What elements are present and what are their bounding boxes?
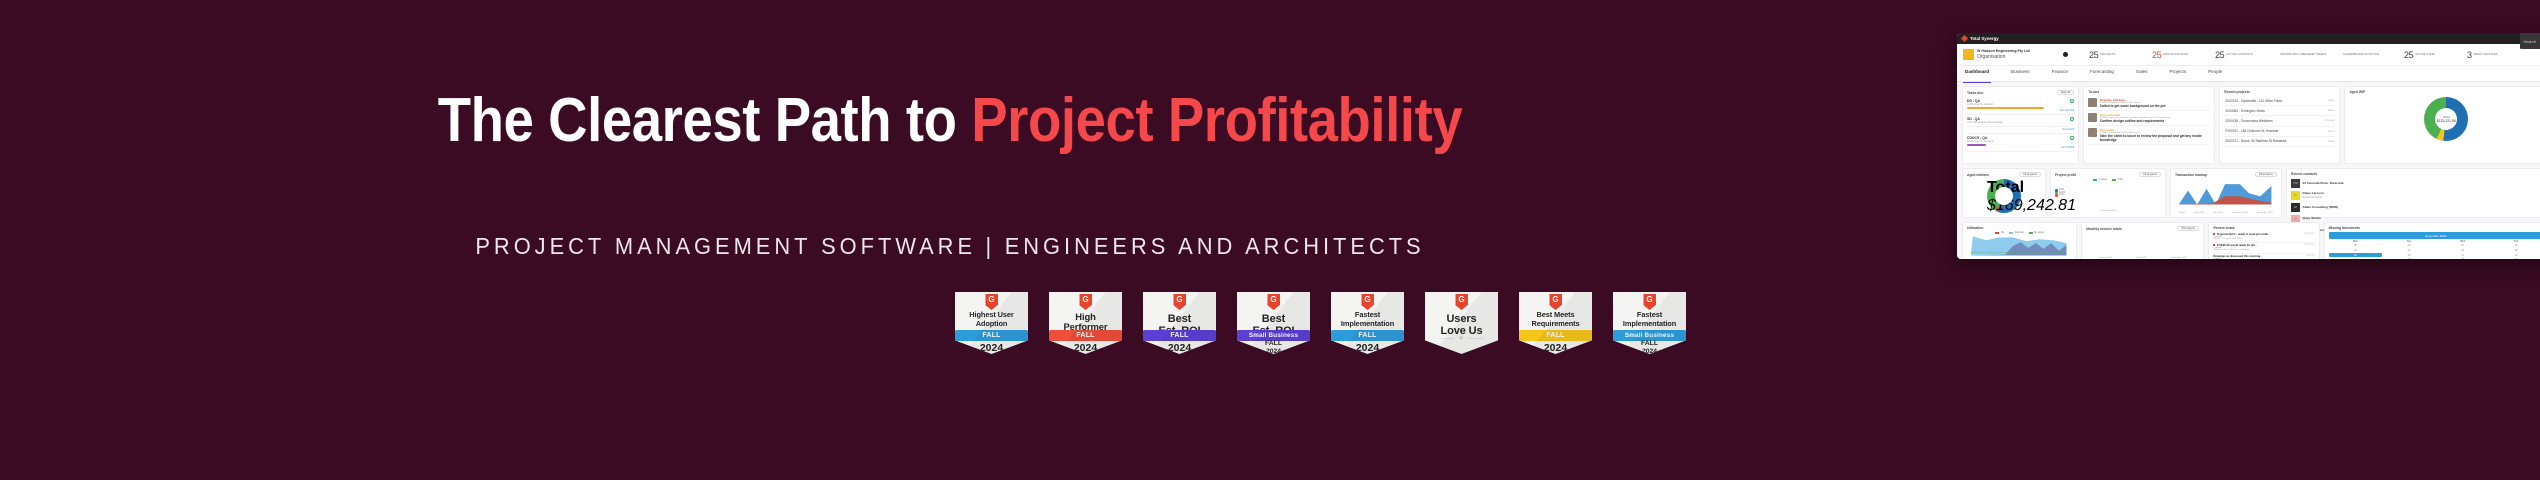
project-row[interactable]: S200071 - Depot, 90 Rainbow St Randwick … <box>2224 137 2335 147</box>
kpi-value: 25 <box>2215 50 2224 60</box>
g2-badge-7[interactable]: G Best MeetsRequirements FALL2024 <box>1519 292 1592 354</box>
todos-card: To-dos Overdue 143 days C20089 - Woollah… <box>2083 86 2215 164</box>
contact-row[interactable]: 2TD 23 Tanunda Drive, Riverside <box>2291 178 2540 190</box>
badge-shape: G Highest UserAdoption FALL2024 <box>955 292 1028 354</box>
g2-badge-4[interactable]: G BestEst. ROI Small BusinessFALL2024 <box>1237 292 1310 354</box>
calendar-week: 16171819 <box>2329 257 2540 259</box>
recent-projects-title: Recent projects <box>2224 90 2249 94</box>
kpi-label: UNPAID INVOICES <box>2163 53 2188 56</box>
axis-tick: July 2024 <box>2213 212 2222 214</box>
avatar <box>2088 113 2097 122</box>
project-status: Proposal <box>2325 119 2334 122</box>
transaction-markup-title: Transaction markup <box>2175 173 2207 177</box>
task-row[interactable]: DD - QA 4/132 Quay St, Auckland Due 22/1… <box>1967 97 2074 115</box>
kpi-label: ACTIVE CONTACTS <box>2226 53 2253 56</box>
tab-dashboard[interactable]: Dashboard <box>1965 69 2001 78</box>
subtitle-left: PROJECT MANAGEMENT SOFTWARE <box>475 233 976 259</box>
project-name: P200017 - 185 Chisholm St, Kewdale <box>2225 129 2278 133</box>
project-status: Active <box>2328 99 2335 102</box>
dashboard-grid: Tasks due View all DD - QA 4/132 Quay St… <box>1957 82 2540 259</box>
axis-tick: March <box>2180 212 2186 214</box>
g2-badge-row: G Highest UserAdoption FALL2024 G HighPe… <box>955 292 1686 354</box>
task-row[interactable]: CDOCS - QA 8/132 Quay St, Auckland Due 2… <box>1967 134 2074 152</box>
badge-ribbon: FALL <box>1046 330 1125 341</box>
calendar-body: 2526272802030405091011121617181923242526… <box>2329 244 2540 259</box>
transaction-markup-filter[interactable]: All projects <box>2255 172 2277 177</box>
calendar-day[interactable]: 18 <box>2436 257 2490 259</box>
search-placeholder: Search <box>2523 39 2536 44</box>
aged-wip-title: Aged WIP <box>2349 90 2365 94</box>
chat-date: 8/02/2020 <box>2305 255 2314 259</box>
tab-finance[interactable]: Finance <box>2052 69 2080 78</box>
g2-badge-2[interactable]: G HighPerformer FALL2024 <box>1049 292 1122 354</box>
unread-icon <box>2213 244 2215 246</box>
aged-debtors-card: Aged debtors All projects Total $169,242… <box>1962 168 2046 218</box>
project-row[interactable]: S200064 - Ermington Views Active <box>2224 106 2335 116</box>
todos-list: Overdue 143 days C20089 - Woollahra Publ… <box>2088 96 2210 145</box>
badge-year: 2024 <box>1143 342 1216 354</box>
kpi-3[interactable]: 25 ACTIVE CONTACTS <box>2215 50 2278 60</box>
tasks-filter[interactable]: View all <box>2057 90 2074 95</box>
unread-icon <box>2213 233 2215 235</box>
g2-badge-1[interactable]: G Highest UserAdoption FALL2024 <box>955 292 1028 354</box>
todo-row[interactable]: Overdue 143 days C20089 - Woollahra Publ… <box>2088 96 2210 111</box>
kpi-value: 25 <box>2089 50 2098 60</box>
project-name: S200071 - Depot, 90 Rainbow St Randwick <box>2225 139 2286 143</box>
legend-item: Profit <box>2112 179 2123 181</box>
calendar-day[interactable]: 16 <box>2329 257 2383 259</box>
avatar <box>2088 98 2097 107</box>
kpi-row: W Hudson Engineering Pty Ltd Organisatio… <box>1957 44 2540 66</box>
axis-tick: September 2024 <box>2232 212 2248 214</box>
contact-row[interactable]: AC Allain Consulting (NSW) <box>2291 202 2540 214</box>
dashboard-row-1: Tasks due View all DD - QA 4/132 Quay St… <box>1962 86 2540 164</box>
task-row[interactable]: SD - QA Unit 6 Wharf Road, Mosman Park D… <box>1967 115 2074 133</box>
badge-year: FALL2024 <box>1237 340 1310 355</box>
subtitle-divider: | <box>986 233 996 259</box>
tab-projects[interactable]: Projects <box>2170 69 2199 78</box>
monthly-invoice-title: Monthly invoice totals <box>2086 227 2122 231</box>
badge-year: FALL2024 <box>1613 340 1686 355</box>
monthly-invoice-filter[interactable]: All projects <box>2177 226 2199 231</box>
badge-shape: G Best MeetsRequirements FALL2024 <box>1519 292 1592 354</box>
avatar <box>2088 128 2097 137</box>
todo-text: Called to get some background on the job <box>2100 104 2211 108</box>
badge-shape: G UsersLove Us —— ★ —— <box>1425 292 1498 354</box>
org-avatar <box>1963 49 1974 60</box>
legend-item: Invoiced <box>2093 179 2107 181</box>
todos-title: To-dos <box>2088 90 2099 94</box>
chat-preview: Thanks Prisha - will look at tomorrow <box>2213 249 2304 251</box>
kpi-label: ACTIVE STAFF <box>2415 53 2435 56</box>
monthly-invoice-xaxis: January 2024May 2024September 2024 <box>2086 257 2199 259</box>
transaction-markup-area <box>2175 179 2277 206</box>
axis-tick: May 2024 <box>2137 257 2147 259</box>
project-status: Active <box>2328 109 2335 112</box>
todo-row[interactable]: Due yesterday M20033 - Footscray Hospita… <box>2088 111 2210 126</box>
calendar-day[interactable]: 17 <box>2382 257 2436 259</box>
todo-text: Confirm design outline and requirements <box>2100 119 2211 123</box>
aged-debtors-donut: Total $169,242.81 <box>1987 179 2021 213</box>
kpi-6[interactable]: 25 ACTIVE STAFF <box>2404 50 2467 60</box>
utilisation-area <box>1967 234 2072 256</box>
dashboard-row-2: Aged debtors All projects Total $169,242… <box>1962 168 2540 218</box>
g2-logo-icon: G <box>1267 294 1280 310</box>
project-name: S200138 - Toowoomba Windfarm <box>2225 119 2272 123</box>
headline-lead: The Clearest Path to <box>438 86 971 155</box>
tab-forecasting[interactable]: Forecasting <box>2090 69 2126 78</box>
task-due: Due 22/12/20 <box>1967 109 2074 112</box>
contact-name: Allain Consulting (NSW) <box>2303 206 2339 210</box>
badge-shape: G FastestImplementation Small BusinessFA… <box>1613 292 1686 354</box>
badge-shape: G HighPerformer FALL2024 <box>1049 292 1122 354</box>
g2-logo-icon: G <box>1455 294 1468 310</box>
badge-shape: G FastestImplementation FALL2024 <box>1331 292 1404 354</box>
g2-logo-icon: G <box>1549 294 1562 310</box>
recent-chats-card: Recent chats Proposal QA'd - ready to se… <box>2208 222 2319 259</box>
calendar-month[interactable]: December 2024 <box>2329 232 2540 239</box>
project-row[interactable]: P200017 - 185 Chisholm St, Kewdale Activ… <box>2224 127 2335 137</box>
missing-timesheets-card: Missing timesheets December 2024 MonTueW… <box>2324 222 2540 259</box>
kpi-value: 25 <box>2404 50 2413 60</box>
aged-debtors-title: Aged debtors <box>1967 173 1989 177</box>
aged-debtors-total-label: Total <box>1987 179 2024 196</box>
project-profit-filter[interactable]: All projects <box>2139 172 2161 177</box>
task-due: Due 8/1/20 <box>1967 128 2074 131</box>
hero-subtitle: PROJECT MANAGEMENT SOFTWARE|ENGINEERS AN… <box>48 233 1853 260</box>
legend-item: 121+ <box>2055 194 2065 197</box>
hero-copy: The Clearest Path to Project Profitabili… <box>0 0 1900 480</box>
aged-wip-donut: Total $133,221.58 <box>2424 97 2468 141</box>
kpi-value: 25 <box>2152 50 2161 60</box>
kpi-1[interactable]: 25 PROJECTS <box>2089 50 2152 60</box>
tasks-due-title: Tasks due <box>1967 91 1983 95</box>
badge-ribbon: FALL <box>952 330 1031 341</box>
g2-logo-icon: G <box>1173 294 1186 310</box>
badge-stars: —— ★ —— <box>1425 334 1498 342</box>
page-title: The Clearest Path to Project Profitabili… <box>114 88 1786 153</box>
aged-wip-card: Aged WIP Total $133,221.58 <box>2344 86 2540 164</box>
contact-name: 23 Tanunda Drive, Riverside <box>2303 182 2344 186</box>
task-sub: Unit 6 Wharf Road, Mosman Park <box>1967 121 2074 124</box>
calendar-day[interactable]: 19 <box>2489 257 2540 259</box>
globe-icon <box>2063 52 2068 57</box>
badge-ribbon: FALL <box>1140 330 1219 341</box>
headline-accent: Project Profitability <box>971 86 1462 155</box>
avatar: DL <box>2291 191 2300 200</box>
chat-row[interactable]: Proposal QA'd - ready to send p/s Linda … <box>2213 232 2314 243</box>
project-row[interactable]: S200104 - Clydesville - 112 Office Fitou… <box>2224 96 2335 106</box>
app-name: Total Synergy <box>1970 36 1999 41</box>
tasks-list: DD - QA 4/132 Quay St, Auckland Due 22/1… <box>1967 97 2074 152</box>
axis-tick: January 2024 <box>2099 257 2112 259</box>
kpi-4[interactable]: INCOMPLETE TIMESHEET WEEKS <box>2278 53 2341 56</box>
search-input[interactable]: Search <box>2520 33 2540 49</box>
task-due: Due 23/9/20 <box>1967 146 2074 149</box>
utilisation-title: Utilisation <box>1967 226 1983 230</box>
recent-chats-list: Proposal QA'd - ready to send p/s Linda … <box>2213 232 2314 259</box>
badge-shape: G BestEst. ROI Small BusinessFALL2024 <box>1237 292 1310 354</box>
project-profit-title: Project profit <box>2055 173 2076 177</box>
tab-sales[interactable]: Sales <box>2136 69 2160 78</box>
g2-logo-icon: G <box>1643 294 1656 310</box>
badge-year: 2024 <box>1049 342 1122 354</box>
g2-badge-3[interactable]: G BestEst. ROI FALL2024 <box>1143 292 1216 354</box>
kpi-label: LEADERBOARD POSITION <box>2343 53 2379 56</box>
axis-tick: May 2024 <box>2195 212 2205 214</box>
organisation-switcher[interactable]: W Hudson Engineering Pty Ltd Organisatio… <box>1963 49 2063 60</box>
aged-wip-total-value: $133,221.58 <box>2437 119 2456 123</box>
transaction-markup-xaxis: MarchMay 2024July 2024September 2024Nove… <box>2175 212 2277 214</box>
tab-people[interactable]: People <box>2208 69 2234 78</box>
product-screenshot: Total Synergy Search W Hudson Engineerin… <box>1957 33 2540 259</box>
aged-debtors-filter[interactable]: All projects <box>2019 172 2041 177</box>
task-sub: 4/132 Quay St, Auckland <box>1967 103 2074 106</box>
badge-year: 2024 <box>1519 342 1592 354</box>
g2-logo-icon: G <box>1079 294 1092 310</box>
kpi-2[interactable]: 25 UNPAID INVOICES <box>2152 50 2215 60</box>
recent-contacts-card: Recent contacts 2TD 23 Tanunda Drive, Ri… <box>2286 168 2540 218</box>
badge-ribbon: FALL <box>1328 330 1407 341</box>
todo-row[interactable]: Due today C20088 - Community centre - Al… <box>2088 126 2210 145</box>
badge-ribbon: FALL <box>1516 330 1595 341</box>
subtitle-right: ENGINEERS AND ARCHITECTS <box>1005 233 1425 259</box>
kpi-label: DRAFT INVOICES <box>2474 53 2498 56</box>
org-name: Organisation <box>1977 54 2030 60</box>
tasks-due-card: Tasks due View all DD - QA 4/132 Quay St… <box>1962 86 2079 164</box>
logo-icon <box>1961 35 1968 42</box>
tab-business[interactable]: Business <box>2011 69 2042 78</box>
g2-logo-icon: G <box>1361 294 1374 310</box>
project-row[interactable]: S200138 - Toowoomba Windfarm Proposal <box>2224 116 2335 126</box>
badge-title: Best MeetsRequirements <box>1521 311 1590 328</box>
recent-projects-card: Recent projects S200104 - Clydesville - … <box>2219 86 2340 164</box>
task-sub: 8/132 Quay St, Auckland <box>1967 140 2074 143</box>
chat-date: 14/02/2020 <box>2304 244 2314 251</box>
app-brand: Total Synergy <box>1962 36 1999 41</box>
monthly-invoice-chart <box>2086 233 2199 256</box>
dashboard-row-3: Utilisation MeStaff avgMy target March 2… <box>1962 222 2540 259</box>
kpi-value: 3 <box>2467 50 2472 60</box>
contact-name: Quay Studio <box>2303 217 2321 221</box>
recent-contacts-title: Recent contacts <box>2291 172 2317 176</box>
g2-logo-icon: G <box>985 294 998 310</box>
avatar: 2TD <box>2291 179 2300 188</box>
kpi-list: 25 PROJECTS 25 UNPAID INVOICES 25 ACTIVE… <box>2063 50 2540 60</box>
recent-projects-list: S200104 - Clydesville - 112 Office Fitou… <box>2224 96 2335 147</box>
project-status: Active <box>2328 130 2335 133</box>
chat-row[interactable]: 27/3/20 Proposal ready for QA - 2 people… <box>2213 243 2314 254</box>
monthly-invoice-card: Monthly invoice totals All projects Janu… <box>2081 222 2204 259</box>
aged-debtors-total-value: $169,242.81 <box>1987 197 2076 214</box>
contact-row[interactable]: DL Diane Larsson Residential Owner <box>2291 190 2540 202</box>
axis-tick: September 2024 <box>2171 257 2187 259</box>
badge-title: FastestImplementation <box>1333 311 1402 328</box>
g2-badge-5[interactable]: G FastestImplementation FALL2024 <box>1331 292 1404 354</box>
project-profit-xlabel: December 2024 <box>2100 210 2116 212</box>
g2-badge-8[interactable]: G FastestImplementation Small BusinessFA… <box>1613 292 1686 354</box>
nav-tabs: DashboardBusinessFinanceForecastingSales… <box>1957 66 2540 82</box>
aged-debtors-legend: 0-3031-60121+ <box>2055 189 2065 197</box>
badge-title: FastestImplementation <box>1615 311 1684 328</box>
axis-tick: November 2024 <box>2257 212 2273 214</box>
kpi-label: PROJECTS <box>2100 53 2115 56</box>
kpi-5[interactable]: LEADERBOARD POSITION <box>2341 53 2404 56</box>
avatar: AC <box>2291 203 2300 212</box>
missing-timesheets-title: Missing timesheets <box>2329 226 2360 230</box>
badge-year: 2024 <box>955 342 1028 354</box>
chat-preview: 28/3/20 - Proposal sent Julian <box>2213 238 2304 240</box>
contact-sub: Residential Owner <box>2303 196 2323 199</box>
transaction-markup-card: Transaction markup All projects MarchMay… <box>2170 168 2282 218</box>
utilisation-card: Utilisation MeStaff avgMy target March 2… <box>1962 222 2077 259</box>
project-status: Active <box>2328 140 2335 143</box>
kpi-7[interactable]: 3 DRAFT INVOICES <box>2467 50 2530 60</box>
project-name: S200064 - Ermington Views <box>2225 109 2264 113</box>
badge-title: Highest UserAdoption <box>957 311 1026 328</box>
kpi-icon[interactable] <box>2063 52 2089 57</box>
todo-text: Take the client to lunch to review the p… <box>2100 134 2211 142</box>
badge-shape: G BestEst. ROI FALL2024 <box>1143 292 1216 354</box>
promo-banner: The Clearest Path to Project Profitabili… <box>0 0 2540 480</box>
chat-date: 10/02/2020 <box>2304 233 2314 240</box>
project-name: S200104 - Clydesville - 112 Office Fitou… <box>2225 99 2282 103</box>
recent-chats-title: Recent chats <box>2213 226 2234 230</box>
app-topbar: Total Synergy Search <box>1957 33 2540 44</box>
g2-badge-6[interactable]: G UsersLove Us —— ★ —— <box>1425 292 1498 354</box>
badge-year: 2024 <box>1331 342 1404 354</box>
chat-row[interactable]: Drawings as discussed this morning - 2 p… <box>2213 254 2314 259</box>
chat-title: Drawings as discussed this morning - 2 p… <box>2213 255 2305 259</box>
kpi-label: INCOMPLETE TIMESHEET WEEKS <box>2280 53 2327 56</box>
